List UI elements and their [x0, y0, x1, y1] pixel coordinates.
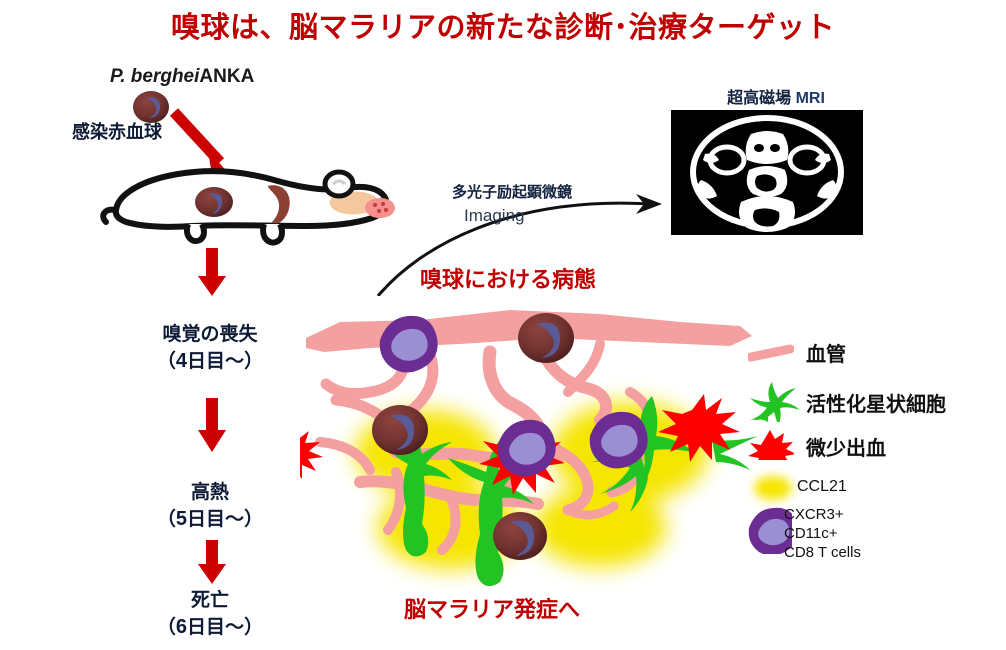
microhemorrhage-icon: [748, 428, 794, 460]
timeline-stage-3: 死亡 （6日目〜）: [120, 588, 300, 641]
timeline-arrow-icon: [196, 540, 228, 586]
timeline-stage-2-name: 高熱: [120, 480, 300, 506]
activated-astrocyte-icon: [746, 378, 800, 422]
timeline-stage-2-day-num: 5: [176, 508, 187, 530]
olfactory-bulb-pathology-illustration: [300, 292, 770, 592]
ccl21-blob-icon: [744, 468, 802, 508]
mri-image: [671, 110, 863, 235]
timeline-stage-3-day-suffix: 日目〜: [187, 617, 244, 638]
imaging-caption: 多光子励起顕微鏡 Imaging: [452, 182, 642, 228]
blood-vessel-icon: [748, 344, 794, 364]
timeline-stage-2: 高熱 （5日目〜）: [120, 480, 300, 533]
timeline-stage-3-name: 死亡: [120, 588, 300, 614]
parasite-strain: ANKA: [199, 66, 254, 87]
timeline-stage-2-day: （5日目〜）: [120, 506, 300, 533]
timeline-stage-1-day: （4日目〜）: [120, 348, 300, 375]
timeline-stage-3-day-num: 6: [176, 616, 187, 638]
mri-title-en: MRI: [796, 90, 825, 107]
timeline-stage-2-day-suffix: 日目〜: [187, 509, 244, 530]
middle-heading: 嗅球における病態: [420, 262, 596, 294]
timeline-arrow-icon: [196, 398, 228, 454]
parasite-species: P. berghei: [110, 66, 199, 87]
legend-label-hemorrhage: 微少出血: [806, 432, 886, 461]
bottom-heading: 脳マラリア発症へ: [404, 592, 580, 624]
infected-red-blood-cell-icon: [372, 405, 428, 455]
legend-label-tcells: CXCR3+ CD11c+ CD8 T cells: [784, 506, 861, 562]
mri-title-jp: 超高磁場: [727, 90, 791, 107]
timeline-stage-3-day: （6日目〜）: [120, 614, 300, 641]
infected-red-blood-cell-icon: [518, 313, 574, 363]
t-cell-icon: [498, 420, 556, 477]
infected-red-blood-cell-icon: [493, 512, 547, 560]
imaging-caption-en: Imaging: [464, 204, 642, 229]
timeline-stage-1-day-suffix: 日目〜: [187, 351, 244, 372]
timeline-stage-1: 嗅覚の喪失 （4日目〜）: [120, 322, 300, 375]
legend-label-ccl21: CCL21: [797, 478, 847, 496]
mri-title: 超高磁場 MRI: [666, 84, 886, 108]
page-title: 嗅球は、脳マラリアの新たな診断･治療ターゲット: [0, 4, 1006, 46]
parasite-strain-label: P. bergheiANKA: [110, 66, 254, 88]
timeline-arrow-icon: [196, 248, 228, 298]
legend-label-astrocyte: 活性化星状細胞: [806, 388, 946, 417]
timeline-stage-1-day-num: 4: [176, 350, 187, 372]
legend-label-vessel: 血管: [806, 338, 846, 367]
timeline-stage-1-name: 嗅覚の喪失: [120, 322, 300, 348]
imaging-caption-jp: 多光子励起顕微鏡: [452, 184, 572, 201]
